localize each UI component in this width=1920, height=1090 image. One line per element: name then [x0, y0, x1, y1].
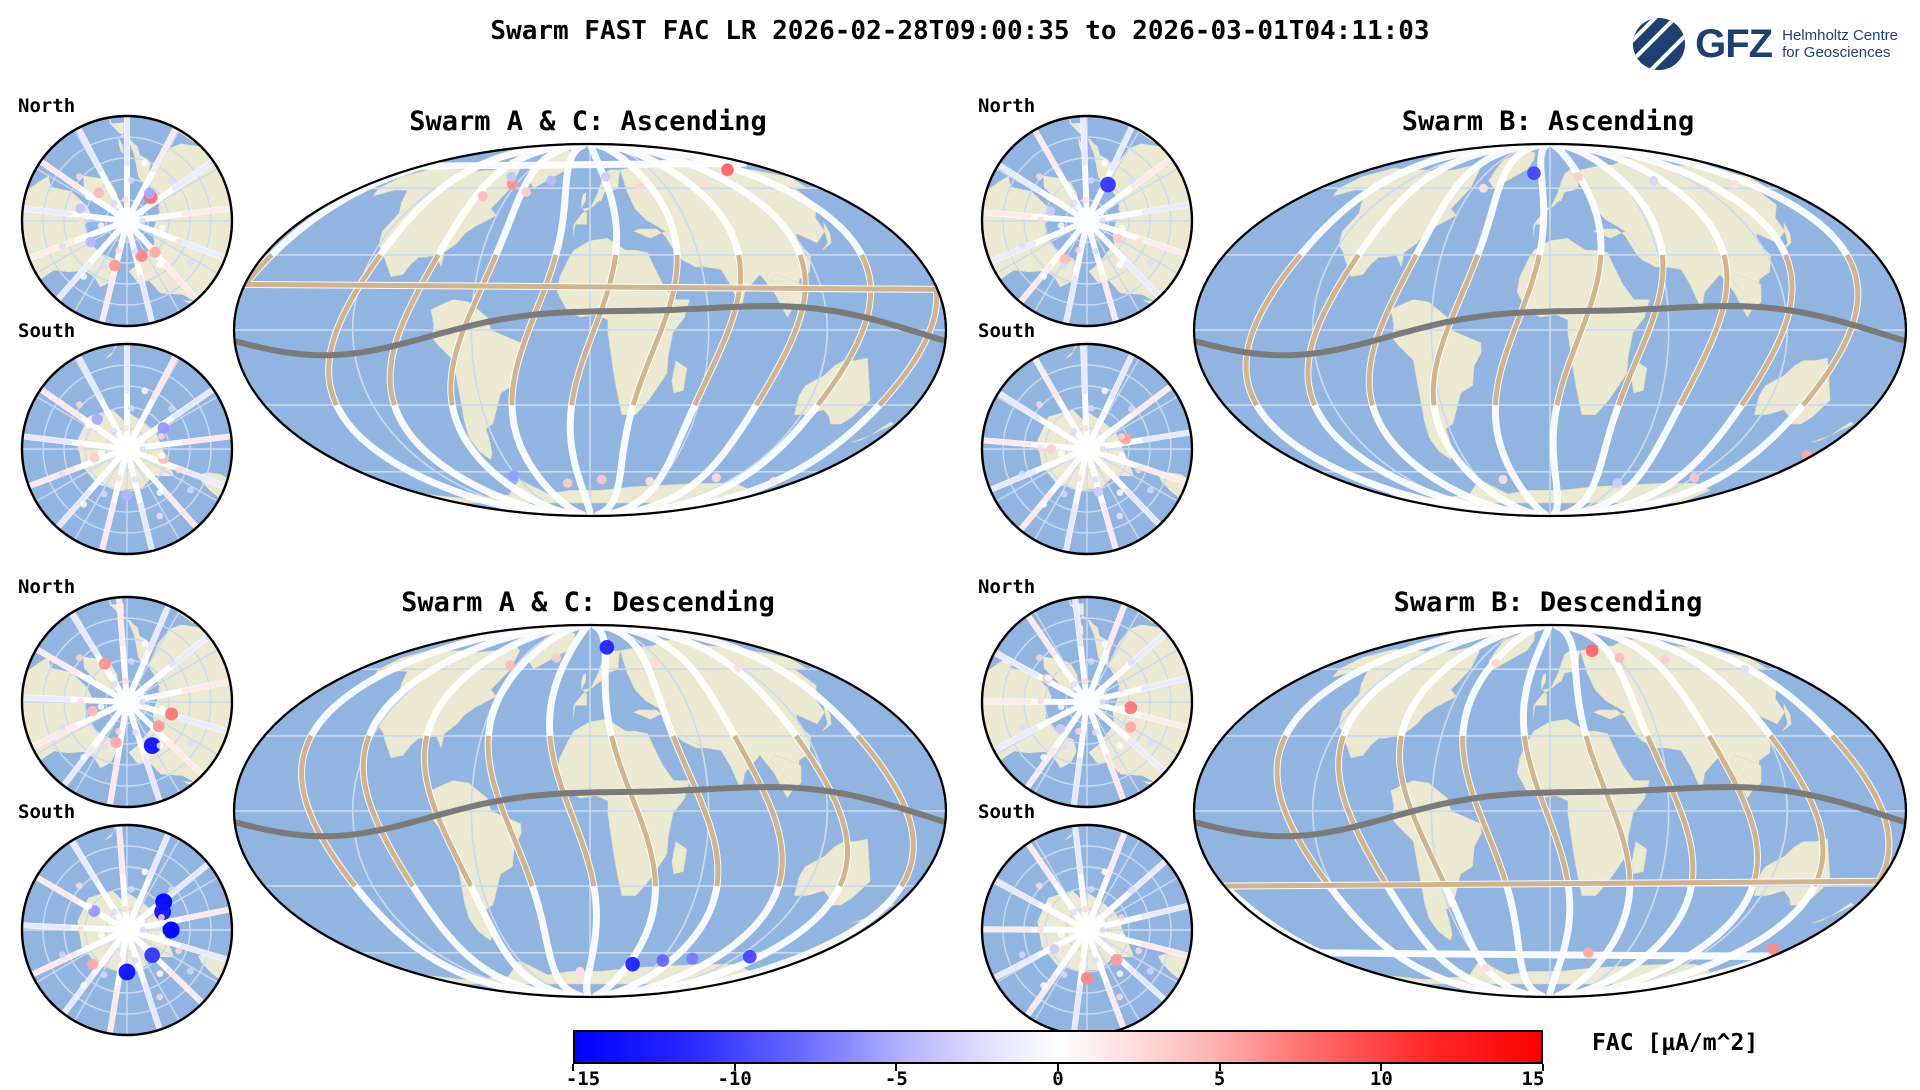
global-map-b-descending[interactable]: [1190, 621, 1910, 1005]
colorbar-tick-label: -5: [885, 1068, 908, 1090]
south-label-ac-ascending: South: [18, 320, 75, 342]
south-label-b-ascending: South: [978, 320, 1035, 342]
gfz-logo-mark-icon: [1633, 18, 1685, 70]
global-map-ac-ascending[interactable]: [230, 140, 950, 524]
panel-title-b-ascending: Swarm B: Ascending: [1196, 106, 1900, 137]
gfz-logo-subtitle-line1: Helmholtz Centre: [1782, 27, 1898, 44]
global-map-ac-descending[interactable]: [230, 621, 950, 1005]
south-polar-plot-b-ascending[interactable]: [978, 340, 1196, 562]
colorbar-gradient: [573, 1030, 1543, 1064]
gfz-logo-subtitle-line2: for Geosciences: [1782, 44, 1898, 61]
panel-title-ac-ascending: Swarm A & C: Ascending: [236, 106, 940, 137]
panel-title-b-descending: Swarm B: Descending: [1196, 587, 1900, 618]
colorbar: -15-10-5051015: [573, 1030, 1543, 1090]
south-label-b-descending: South: [978, 801, 1035, 823]
panel-title-ac-descending: Swarm A & C: Descending: [236, 587, 940, 618]
gfz-logo: GFZ Helmholtz Centre for Geosciences: [1633, 18, 1898, 70]
gfz-logo-text: GFZ: [1695, 24, 1772, 64]
south-polar-plot-ac-ascending[interactable]: [18, 340, 236, 562]
colorbar-tick-label: 15: [1522, 1068, 1545, 1090]
colorbar-tick-label: 10: [1370, 1068, 1393, 1090]
colorbar-tick-label: 0: [1052, 1068, 1063, 1090]
south-polar-plot-ac-descending[interactable]: [18, 821, 236, 1043]
colorbar-tick-label: -10: [717, 1068, 751, 1090]
colorbar-tick-label: 5: [1214, 1068, 1225, 1090]
north-polar-plot-b-ascending[interactable]: [978, 112, 1196, 334]
north-polar-plot-ac-ascending[interactable]: [18, 112, 236, 334]
colorbar-tick-label: -15: [566, 1068, 600, 1090]
north-polar-plot-b-descending[interactable]: [978, 593, 1196, 815]
south-label-ac-descending: South: [18, 801, 75, 823]
south-polar-plot-b-descending[interactable]: [978, 821, 1196, 1043]
page-title: Swarm FAST FAC LR 2026-02-28T09:00:35 to…: [0, 16, 1920, 46]
global-map-b-ascending[interactable]: [1190, 140, 1910, 524]
colorbar-label: FAC [µA/m^2]: [1592, 1030, 1758, 1056]
north-polar-plot-ac-descending[interactable]: [18, 593, 236, 815]
colorbar-ticks: -15-10-5051015: [573, 1064, 1543, 1090]
